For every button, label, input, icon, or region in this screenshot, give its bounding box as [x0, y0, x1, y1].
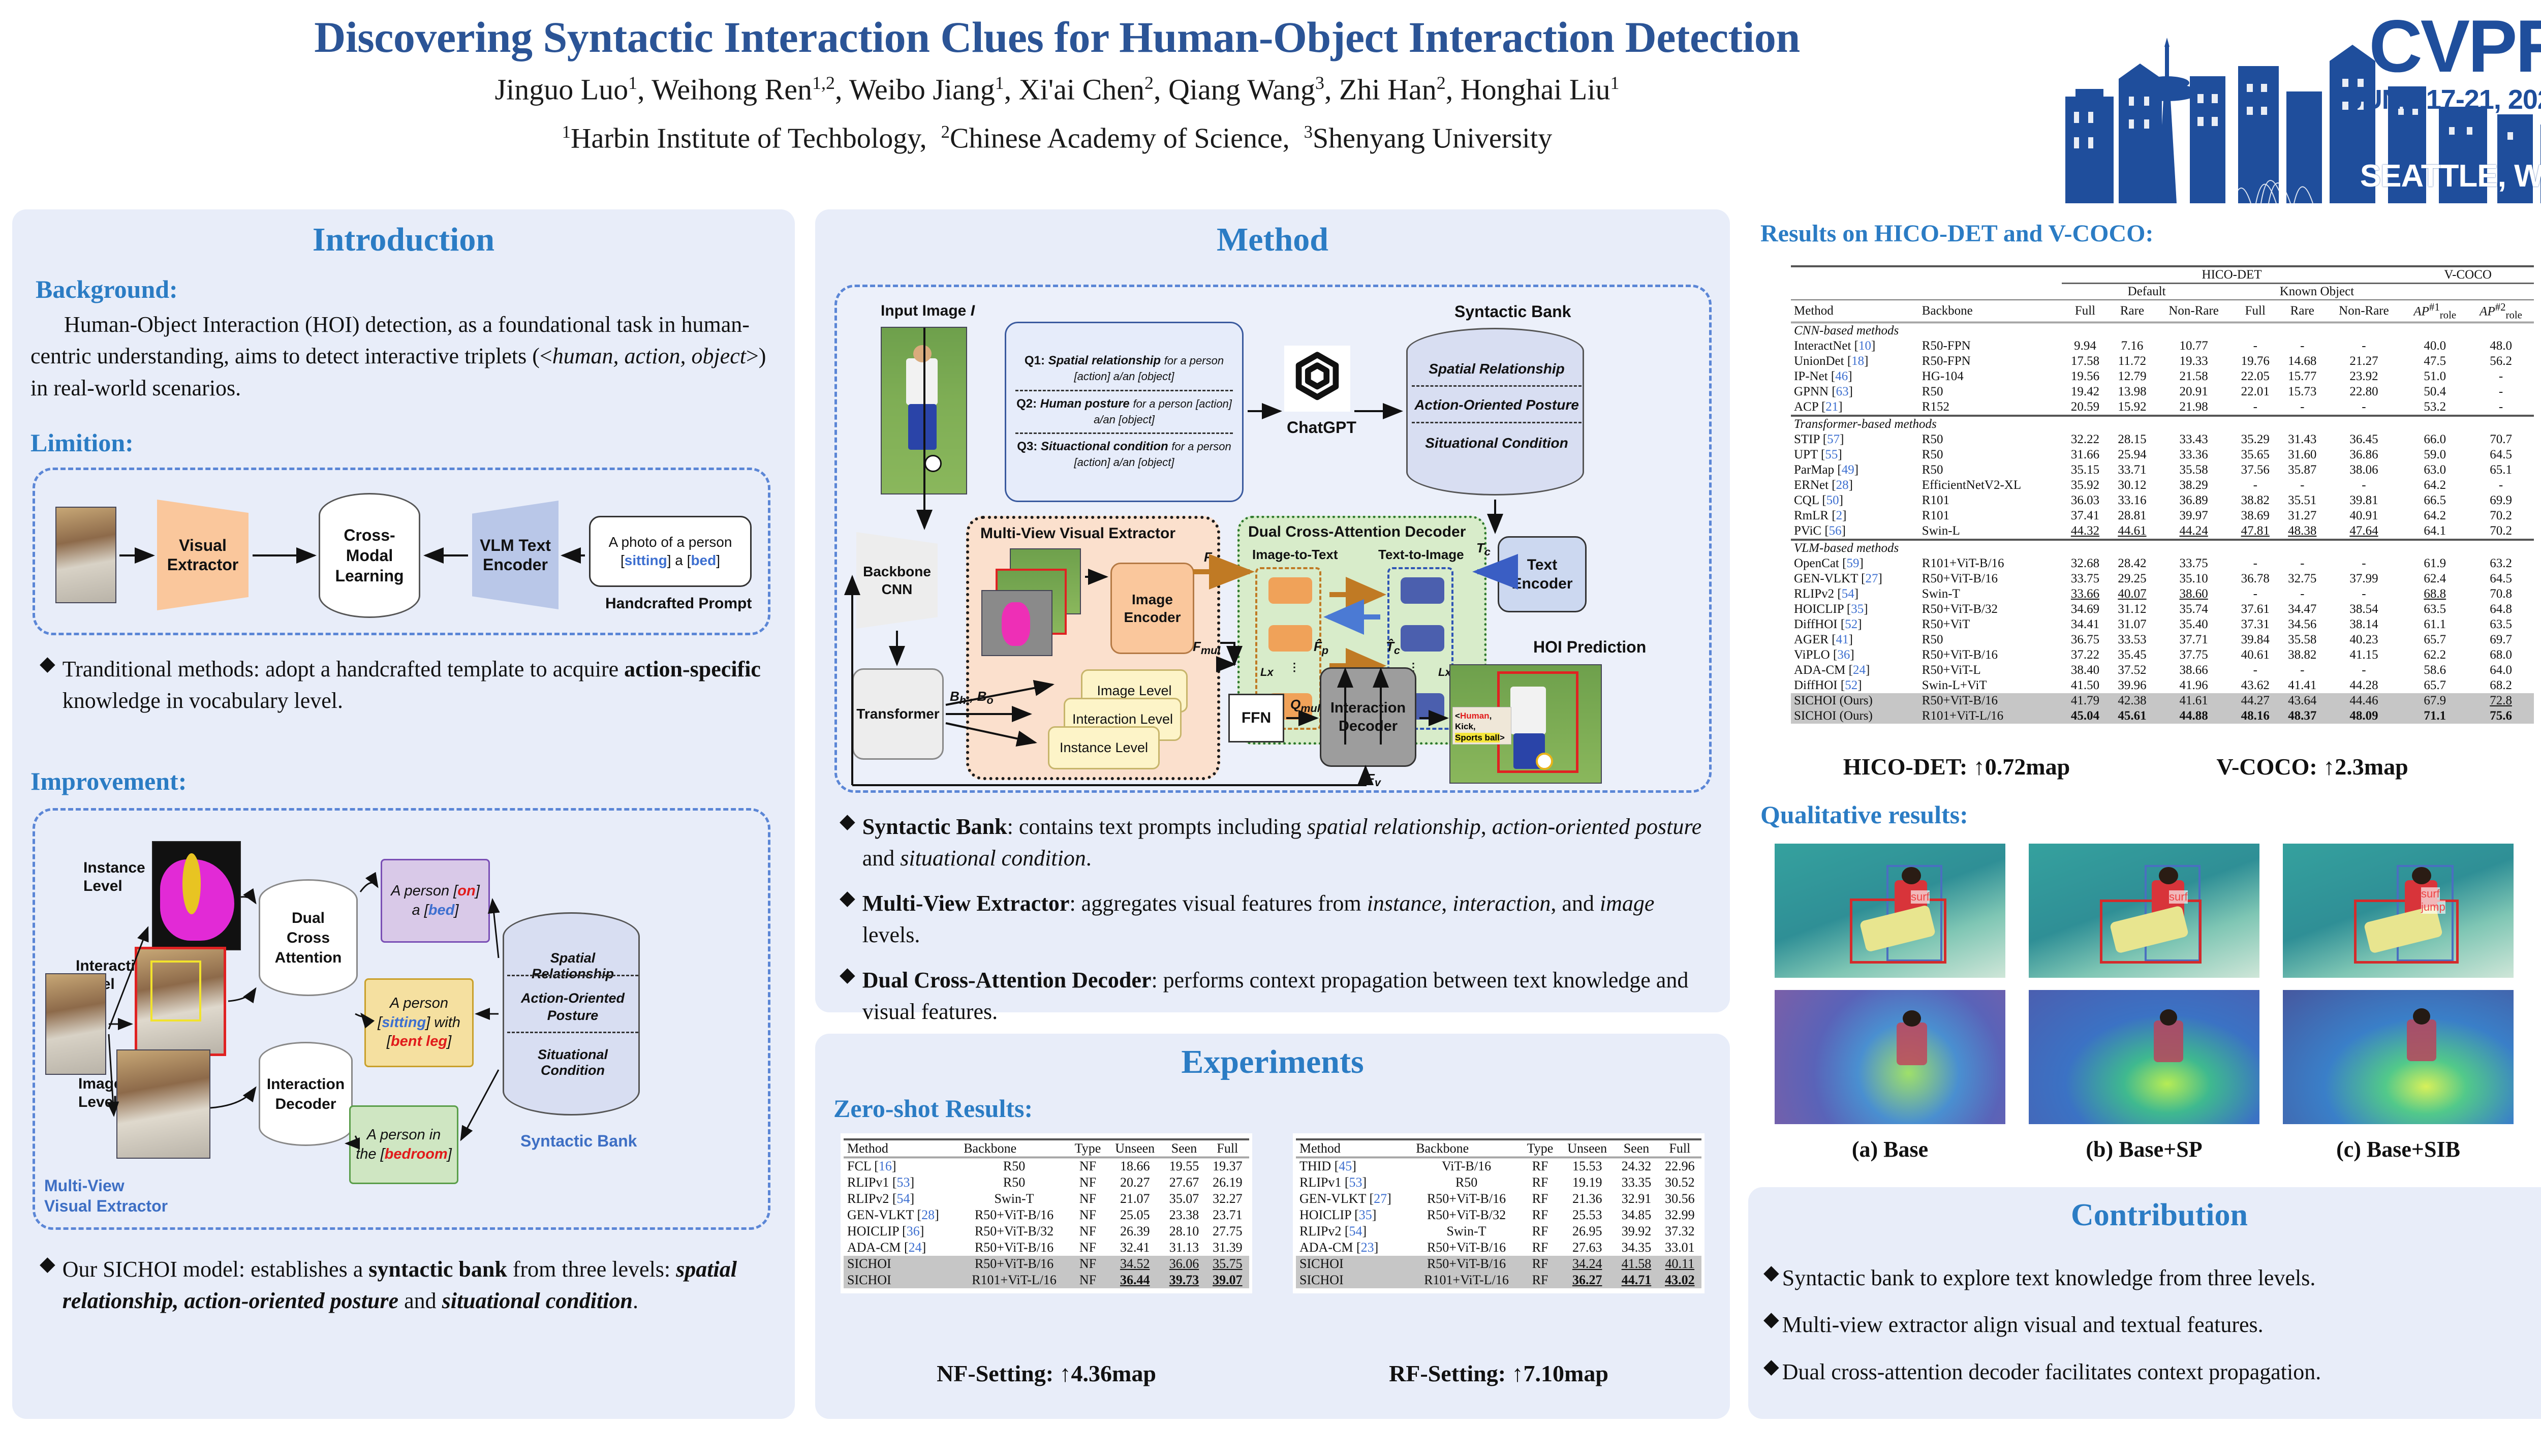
cell-method: FCL [16]: [844, 1158, 960, 1175]
cell-method: ADA-CM [24]: [844, 1240, 960, 1256]
cell-value: 35.58: [2279, 632, 2326, 647]
cell-value: -: [2279, 399, 2326, 416]
cell-value: 67.9: [2402, 693, 2468, 708]
cell-value: 69.7: [2468, 632, 2534, 647]
cell-backbone: EfficientNetV2-XL: [1919, 478, 2062, 493]
diamond-bullet-icon: ◆: [40, 654, 55, 717]
cell-method: AGER [41]: [1791, 632, 1919, 647]
cell-method: SICHOI (Ours): [1791, 693, 1919, 708]
cell-value: -: [2279, 556, 2326, 571]
cell-value: 42.38: [2109, 693, 2155, 708]
cell-method: GPNN [63]: [1791, 384, 1919, 399]
cell-value: 32.68: [2062, 556, 2109, 571]
cell-value: 40.07: [2109, 586, 2155, 602]
table-row: STIP [57]R5032.2228.1533.4335.2931.4336.…: [1791, 432, 2534, 447]
cell-method: SICHOI (Ours): [1791, 708, 1919, 724]
table-row: SICHOI (Ours)R101+ViT-L/1645.0445.6144.8…: [1791, 708, 2534, 724]
cell-value: 34.56: [2279, 617, 2326, 632]
cell-value: 22.96: [1658, 1158, 1701, 1175]
qualitative-heatmap-image: [1771, 986, 2009, 1128]
cell-backbone: R50-FPN: [1919, 338, 2062, 354]
cell-value: 37.52: [2109, 663, 2155, 678]
qualitative-caption-b: (b) Base+SP: [2025, 1136, 2264, 1162]
method-panel: Method Input Image I Q1: Spatial relatio…: [815, 209, 1730, 1012]
cell-method: ParMap [49]: [1791, 462, 1919, 478]
cell-value: -: [2326, 586, 2402, 602]
cell-value: 39.84: [2232, 632, 2279, 647]
cell-value: 36.27: [1560, 1272, 1615, 1288]
results-section: Results on HICO-DET and V-COCO: HICO-DET…: [1748, 209, 2541, 1180]
limitation-diagram: VisualExtractor Cross-ModalLearning VLM …: [33, 468, 770, 635]
cell-value: -: [2279, 478, 2326, 493]
cell-type: NF: [1068, 1207, 1107, 1223]
cell-value: 29.25: [2109, 571, 2155, 586]
col-header-1: Backbone: [960, 1139, 1068, 1158]
cell-type: NF: [1068, 1174, 1107, 1191]
table-row: GPNN [63]R5019.4213.9820.9122.0115.7322.…: [1791, 384, 2534, 399]
cell-value: 39.97: [2156, 508, 2232, 523]
rf-table-wrap: MethodBackboneTypeUnseenSeenFullTHID [45…: [1293, 1133, 1705, 1293]
improvement-arrows: [35, 811, 773, 1232]
table-row: PViC [56]Swin-L44.3244.6144.2447.8148.38…: [1791, 523, 2534, 540]
cell-value: 19.76: [2232, 354, 2279, 369]
cell-backbone: R50+ViT: [1919, 617, 2062, 632]
cell-value: 64.5: [2468, 447, 2534, 462]
cell-value: 31.43: [2279, 432, 2326, 447]
cell-value: 28.42: [2109, 556, 2155, 571]
cell-value: 18.66: [1107, 1158, 1162, 1175]
table-row: AGER [41]R5036.7533.5337.7139.8435.5840.…: [1791, 632, 2534, 647]
cell-value: 68.0: [2468, 647, 2534, 663]
cell-backbone: R50+ViT-B/16: [1412, 1240, 1521, 1256]
col-header-5: Full: [1658, 1139, 1701, 1158]
zeroshot-rf-table: MethodBackboneTypeUnseenSeenFullTHID [45…: [1296, 1138, 1701, 1288]
cell-value: 64.5: [2468, 571, 2534, 586]
cell-backbone: R50+ViT-B/32: [1919, 602, 2062, 617]
cell-value: 75.6: [2468, 708, 2534, 724]
cell-type: RF: [1521, 1174, 1560, 1191]
cell-value: 38.60: [2156, 586, 2232, 602]
cell-value: -: [2326, 663, 2402, 678]
diamond-bullet-icon: ◆: [1763, 1356, 1779, 1388]
cell-value: 48.0: [2468, 338, 2534, 354]
author-list: Jinguo Luo1, Weihong Ren1,2, Weibo Jiang…: [102, 72, 2012, 106]
cell-value: 41.50: [2062, 678, 2109, 693]
cell-value: 41.96: [2156, 678, 2232, 693]
cell-method: RLIPv1 [53]: [844, 1174, 960, 1191]
cell-value: 36.45: [2326, 432, 2402, 447]
main-results-table: HICO-DETV-COCODefaultKnown ObjectMethodB…: [1791, 265, 2534, 724]
cell-value: 31.60: [2279, 447, 2326, 462]
cell-value: 11.72: [2109, 354, 2155, 369]
cell-value: 36.89: [2156, 493, 2232, 508]
cell-value: 20.27: [1107, 1174, 1162, 1191]
cell-backbone: R50: [960, 1158, 1068, 1175]
cell-value: 33.16: [2109, 493, 2155, 508]
cell-value: 59.0: [2402, 447, 2468, 462]
limitation-arrows: [35, 470, 773, 638]
cell-type: NF: [1068, 1256, 1107, 1272]
cell-value: 45.61: [2109, 708, 2155, 724]
diamond-bullet-icon: ◆: [1763, 1309, 1779, 1341]
cell-value: 70.2: [2468, 523, 2534, 540]
col-header-2: Type: [1068, 1139, 1107, 1158]
cell-value: 35.58: [2156, 462, 2232, 478]
cell-value: 62.2: [2402, 647, 2468, 663]
cell-value: 27.67: [1162, 1174, 1205, 1191]
contribution-bullet-3: ◆ Dual cross-attention decoder facilitat…: [1763, 1356, 2541, 1388]
cell-method: RLIPv2 [54]: [1791, 586, 1919, 602]
cell-value: 7.16: [2109, 338, 2155, 354]
cell-value: 65.7: [2402, 678, 2468, 693]
table-row: DiffHOI [52]Swin-L+ViT41.5039.9641.9643.…: [1791, 678, 2534, 693]
nf-table-wrap: MethodBackboneTypeUnseenSeenFullFCL [16]…: [841, 1133, 1252, 1293]
cell-method: OpenCat [59]: [1791, 556, 1919, 571]
cell-value: 38.14: [2326, 617, 2402, 632]
qual-label-surf: surf: [2169, 890, 2188, 904]
cell-backbone: ViT-B/16: [1412, 1158, 1521, 1175]
qualitative-column: surf jump (c) Base+SIB: [2279, 840, 2518, 1162]
cell-type: RF: [1521, 1191, 1560, 1207]
col-header-0: Method: [844, 1139, 960, 1158]
cell-backbone: R50-FPN: [1919, 354, 2062, 369]
cell-value: 70.7: [2468, 432, 2534, 447]
cell-value: 28.81: [2109, 508, 2155, 523]
cell-value: 43.62: [2232, 678, 2279, 693]
subgroup-default: Default: [2062, 284, 2232, 300]
table-row: UPT [55]R5031.6625.9433.3635.6531.6036.8…: [1791, 447, 2534, 462]
cell-value: -: [2232, 338, 2279, 354]
cell-value: 61.9: [2402, 556, 2468, 571]
cell-value: 35.87: [2279, 462, 2326, 478]
cell-value: 27.75: [1206, 1223, 1249, 1240]
contribution-title: Contribution: [1748, 1197, 2541, 1233]
col-header-ap1: AP#1role: [2402, 300, 2468, 323]
cell-backbone: R50+ViT-B/16: [1919, 571, 2062, 586]
cell-backbone: R50+ViT-B/16: [960, 1256, 1068, 1272]
cell-method: SICHOI: [844, 1256, 960, 1272]
cell-method: GEN-VLKT [28]: [844, 1207, 960, 1223]
nf-table-body: MethodBackboneTypeUnseenSeenFullFCL [16]…: [844, 1139, 1249, 1288]
method-title: Method: [815, 221, 1730, 259]
limitation-bullet-text: Tranditional methods: adopt a handcrafte…: [63, 654, 761, 717]
cell-value: 39.73: [1162, 1272, 1205, 1288]
cell-value: 22.01: [2232, 384, 2279, 399]
cell-method: SICHOI: [1296, 1256, 1412, 1272]
vcoco-improvement-caption: V-COCO: ↑2.3map: [2150, 753, 2475, 780]
cell-backbone: Swin-T: [1919, 586, 2062, 602]
cell-value: 19.56: [2062, 369, 2109, 384]
rf-setting-caption: RF-Setting: ↑7.10map: [1293, 1360, 1705, 1387]
cell-value: 28.15: [2109, 432, 2155, 447]
experiments-title: Experiments: [815, 1043, 1730, 1081]
contribution-panel: Contribution ◆ Syntactic bank to explore…: [1748, 1187, 2541, 1419]
cell-value: 33.36: [2156, 447, 2232, 462]
cell-value: 39.92: [1615, 1223, 1658, 1240]
cell-value: 9.94: [2062, 338, 2109, 354]
table-row: ERNet [28]EfficientNetV2-XL35.9230.1238.…: [1791, 478, 2534, 493]
cell-value: 43.64: [2279, 693, 2326, 708]
diamond-bullet-icon: ◆: [40, 1254, 55, 1317]
cell-value: 23.92: [2326, 369, 2402, 384]
cell-value: 20.91: [2156, 384, 2232, 399]
cell-value: 36.06: [1162, 1256, 1205, 1272]
cell-method: ERNet [28]: [1791, 478, 1919, 493]
cell-value: -: [2279, 586, 2326, 602]
cell-value: -: [2232, 663, 2279, 678]
cell-method: HOICLIP [35]: [1791, 602, 1919, 617]
cell-value: 56.2: [2468, 354, 2534, 369]
cell-value: 23.71: [1206, 1207, 1249, 1223]
cell-value: 28.10: [1162, 1223, 1205, 1240]
col-header-ap2: AP#2role: [2468, 300, 2534, 323]
cell-value: 40.11: [1658, 1256, 1701, 1272]
cell-value: 30.56: [1658, 1191, 1701, 1207]
cell-value: 47.64: [2326, 523, 2402, 540]
nf-setting-caption: NF-Setting: ↑4.36map: [841, 1360, 1252, 1387]
qualitative-caption-c: (c) Base+SIB: [2279, 1136, 2518, 1162]
table-row: RLIPv2 [54]Swin-TRF26.9539.9237.32: [1296, 1223, 1701, 1240]
cell-value: 32.41: [1107, 1240, 1162, 1256]
cell-value: 41.41: [2279, 678, 2326, 693]
cell-type: NF: [1068, 1240, 1107, 1256]
cell-value: 44.32: [2062, 523, 2109, 540]
cell-method: PViC [56]: [1791, 523, 1919, 540]
cell-type: NF: [1068, 1191, 1107, 1207]
table-row: RLIPv1 [53]R50NF20.2727.6726.19: [844, 1174, 1249, 1191]
cell-type: RF: [1521, 1256, 1560, 1272]
cell-value: 26.95: [1560, 1223, 1615, 1240]
table-row: SICHOIR101+ViT-L/16NF36.4439.7339.07: [844, 1272, 1249, 1288]
cell-value: 66.5: [2402, 493, 2468, 508]
cell-value: 34.69: [2062, 602, 2109, 617]
col-header-1: Rare: [2109, 300, 2155, 323]
cell-value: 38.82: [2279, 647, 2326, 663]
results-heading: Results on HICO-DET and V-COCO:: [1760, 220, 2153, 247]
cell-value: 44.71: [1615, 1272, 1658, 1288]
cell-value: 23.38: [1162, 1207, 1205, 1223]
qualitative-heatmap-image: [2279, 986, 2518, 1128]
cell-value: 21.27: [2326, 354, 2402, 369]
cell-method: HOICLIP [36]: [844, 1223, 960, 1240]
qualitative-heatmap-image: [2025, 986, 2264, 1128]
cell-backbone: R50: [1412, 1174, 1521, 1191]
cell-value: 21.98: [2156, 399, 2232, 416]
table-row: RLIPv2 [54]Swin-T33.6640.0738.60---68.87…: [1791, 586, 2534, 602]
table-row: GEN-VLKT [28]R50+ViT-B/16NF25.0523.3823.…: [844, 1207, 1249, 1223]
cell-backbone: R50+ViT-B/16: [1412, 1256, 1521, 1272]
cell-value: 19.33: [2156, 354, 2232, 369]
cell-value: 44.24: [2156, 523, 2232, 540]
cvpr-city: SEATTLE, WA: [2360, 158, 2541, 194]
contribution-bullet-2: ◆ Multi-view extractor align visual and …: [1763, 1309, 2541, 1341]
cell-value: 63.5: [2468, 617, 2534, 632]
cell-method: UnionDet [18]: [1791, 354, 1919, 369]
table-row: ParMap [49]R5035.1533.7135.5837.5635.873…: [1791, 462, 2534, 478]
cell-value: 41.61: [2156, 693, 2232, 708]
main-table-body: CNN-based methodsInteractNet [10]R50-FPN…: [1791, 323, 2534, 724]
method-bullet-2: ◆ Multi-View Extractor: aggregates visua…: [840, 888, 1714, 951]
cell-value: 31.12: [2109, 602, 2155, 617]
cell-value: -: [2326, 399, 2402, 416]
cell-value: 48.38: [2279, 523, 2326, 540]
cell-method: CQL [50]: [1791, 493, 1919, 508]
cell-backbone: Swin-T: [1412, 1223, 1521, 1240]
limitation-bullet: ◆ Tranditional methods: adopt a handcraf…: [40, 654, 761, 717]
zeroshot-nf-table: MethodBackboneTypeUnseenSeenFullFCL [16]…: [844, 1138, 1249, 1288]
cell-value: 35.65: [2232, 447, 2279, 462]
cell-type: NF: [1068, 1272, 1107, 1288]
cell-value: 22.80: [2326, 384, 2402, 399]
table-row: CQL [50]R10136.0333.1636.8938.8235.5139.…: [1791, 493, 2534, 508]
col-header-4: Rare: [2279, 300, 2326, 323]
cell-method: RLIPv2 [54]: [844, 1191, 960, 1207]
cell-value: 20.59: [2062, 399, 2109, 416]
cell-value: 35.75: [1206, 1256, 1249, 1272]
cell-backbone: R50: [1919, 462, 2062, 478]
section-header: Transformer-based methods: [1791, 416, 2534, 432]
limitation-heading: Limition:: [30, 428, 134, 457]
cell-method: GEN-VLKT [27]: [1791, 571, 1919, 586]
cell-value: 65.1: [2468, 462, 2534, 478]
cell-value: 35.15: [2062, 462, 2109, 478]
cell-method: DiffHOI [52]: [1791, 678, 1919, 693]
table-row: UnionDet [18]R50-FPN17.5811.7219.3319.76…: [1791, 354, 2534, 369]
cell-value: 35.92: [2062, 478, 2109, 493]
cell-value: 50.4: [2402, 384, 2468, 399]
method-arrows: [837, 287, 1714, 795]
cell-backbone: HG-104: [1919, 369, 2062, 384]
cell-method: RmLR [2]: [1791, 508, 1919, 523]
cell-backbone: R101+ViT-B/16: [1919, 556, 2062, 571]
qual-label-jump: jump: [2421, 901, 2445, 914]
qualitative-column: surf (a) Base: [1771, 840, 2009, 1162]
introduction-panel: Introduction Background: Human-Object In…: [12, 209, 795, 1419]
cell-value: 35.40: [2156, 617, 2232, 632]
table-row: ACP [21]R15220.5915.9221.98---53.2-: [1791, 399, 2534, 416]
cell-value: 36.44: [1107, 1272, 1162, 1288]
cell-backbone: R50+ViT-B/16: [960, 1240, 1068, 1256]
cell-value: 32.27: [1206, 1191, 1249, 1207]
cell-value: 32.91: [1615, 1191, 1658, 1207]
cell-value: 44.61: [2109, 523, 2155, 540]
cell-value: 40.0: [2402, 338, 2468, 354]
cell-backbone: R50+ViT-B/32: [1412, 1207, 1521, 1223]
cell-value: 17.58: [2062, 354, 2109, 369]
cell-value: 33.75: [2156, 556, 2232, 571]
cell-method: InteractNet [10]: [1791, 338, 1919, 354]
group-header-hico: HICO-DET: [2062, 266, 2402, 284]
cell-value: 64.8: [2468, 602, 2534, 617]
cell-value: 41.58: [1615, 1256, 1658, 1272]
section-header: CNN-based methods: [1791, 323, 2534, 339]
cell-value: 33.35: [1615, 1174, 1658, 1191]
cell-value: 35.29: [2232, 432, 2279, 447]
cell-value: 24.32: [1615, 1158, 1658, 1175]
diamond-bullet-icon: ◆: [840, 811, 855, 875]
cell-backbone: R101: [1919, 508, 2062, 523]
subgroup-known: Known Object: [2232, 284, 2402, 300]
cell-backbone: R50+ViT-B/32: [960, 1223, 1068, 1240]
col-header-0: Full: [2062, 300, 2109, 323]
qualitative-detection-image: surf: [1771, 840, 2009, 982]
cell-value: 34.52: [1107, 1256, 1162, 1272]
table-row: GEN-VLKT [27]R50+ViT-B/16RF21.3632.9130.…: [1296, 1191, 1701, 1207]
cell-type: RF: [1521, 1158, 1560, 1175]
col-header-2: Non-Rare: [2156, 300, 2232, 323]
cell-backbone: R50+ViT-B/16: [960, 1207, 1068, 1223]
table-row: GEN-VLKT [27]R50+ViT-B/1633.7529.2535.10…: [1791, 571, 2534, 586]
improvement-diagram: InstanceLevel InteractionLevel ImageLeve…: [33, 808, 770, 1230]
cell-value: 68.2: [2468, 678, 2534, 693]
cell-value: 41.15: [2326, 647, 2402, 663]
cell-method: STIP [57]: [1791, 432, 1919, 447]
cell-value: 21.07: [1107, 1191, 1162, 1207]
cell-value: 48.09: [2326, 708, 2402, 724]
contribution-bullets: ◆ Syntactic bank to explore text knowled…: [1763, 1262, 2541, 1388]
cell-value: 63.5: [2402, 602, 2468, 617]
table-row: SICHOIR50+ViT-B/16NF34.5236.0635.75: [844, 1256, 1249, 1272]
improvement-bullet-text: Our SICHOI model: establishes a syntacti…: [63, 1254, 761, 1317]
cell-value: 26.19: [1206, 1174, 1249, 1191]
qual-label-surf: surf: [2421, 887, 2440, 901]
cell-type: RF: [1521, 1207, 1560, 1223]
method-bullet-1: ◆ Syntactic Bank: contains text prompts …: [840, 811, 1714, 875]
cell-value: 33.71: [2109, 462, 2155, 478]
cell-value: 71.1: [2402, 708, 2468, 724]
col-header-3: Full: [2232, 300, 2279, 323]
poster-header: Discovering Syntactic Interaction Clues …: [0, 0, 2541, 203]
col-header-backbone: Backbone: [1919, 300, 2062, 323]
cell-value: 36.78: [2232, 571, 2279, 586]
cell-value: 44.46: [2326, 693, 2402, 708]
cell-backbone: Swin-T: [960, 1191, 1068, 1207]
cell-value: 10.77: [2156, 338, 2232, 354]
cell-value: -: [2232, 399, 2279, 416]
cell-method: SICHOI: [1296, 1272, 1412, 1288]
cell-method: ACP [21]: [1791, 399, 1919, 416]
cell-value: 44.27: [2232, 693, 2279, 708]
cell-backbone: R50+ViT-B/16: [1412, 1191, 1521, 1207]
qualitative-caption-a: (a) Base: [1771, 1136, 2009, 1162]
cell-value: -: [2232, 478, 2279, 493]
cvpr-dates: JUNE 17-21, 2024: [2348, 84, 2541, 115]
table-row: DiffHOI [52]R50+ViT34.4131.0735.4037.313…: [1791, 617, 2534, 632]
col-header-4: Seen: [1615, 1139, 1658, 1158]
cell-value: 27.63: [1560, 1240, 1615, 1256]
introduction-title: Introduction: [12, 221, 795, 259]
table-row: ADA-CM [23]R50+ViT-B/16RF27.6334.3533.01: [1296, 1240, 1701, 1256]
cell-value: 68.8: [2402, 586, 2468, 602]
cell-value: -: [2279, 338, 2326, 354]
col-header-3: Unseen: [1107, 1139, 1162, 1158]
cell-value: 35.51: [2279, 493, 2326, 508]
cell-backbone: R50: [1919, 447, 2062, 462]
cell-type: RF: [1521, 1223, 1560, 1240]
poster-root: Discovering Syntactic Interaction Clues …: [0, 0, 2541, 1456]
cell-value: 14.68: [2279, 354, 2326, 369]
table-row: RLIPv2 [54]Swin-TNF21.0735.0732.27: [844, 1191, 1249, 1207]
table-row: HOICLIP [36]R50+ViT-B/32NF26.3928.1027.7…: [844, 1223, 1249, 1240]
cell-method: ViPLO [36]: [1791, 647, 1919, 663]
cell-value: 51.0: [2402, 369, 2468, 384]
cell-value: -: [2326, 338, 2402, 354]
cvpr-name: CVPR: [2348, 11, 2541, 82]
cell-method: SICHOI: [844, 1272, 960, 1288]
col-header-2: Type: [1521, 1139, 1560, 1158]
cell-value: 33.43: [2156, 432, 2232, 447]
cell-value: 72.8: [2468, 693, 2534, 708]
